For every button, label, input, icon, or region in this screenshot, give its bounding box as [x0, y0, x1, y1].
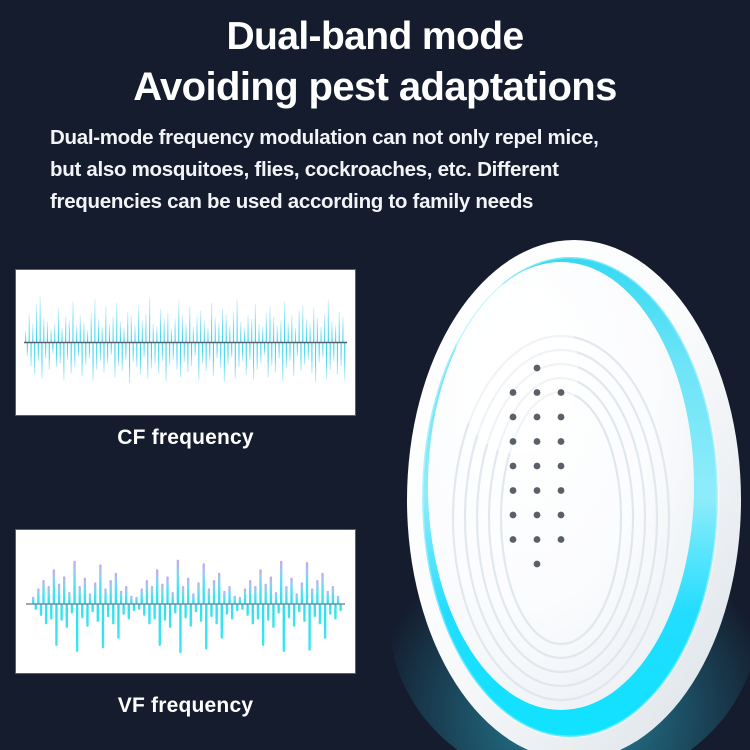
vf-wave-bar — [234, 596, 236, 604]
vf-caption: VF frequency — [16, 694, 355, 718]
cf-wave-bar — [38, 343, 39, 362]
cf-wave-bar — [118, 343, 119, 367]
cf-wave-bar — [330, 343, 331, 370]
vf-wave-bar — [146, 580, 148, 604]
vf-wave-bar — [172, 592, 174, 604]
grille-dot — [510, 438, 517, 445]
cf-wave-bar — [195, 343, 196, 357]
vf-wave-bar — [296, 593, 298, 604]
vf-wave-bar — [159, 604, 161, 646]
description-paragraph: Dual-mode frequency modulation can not o… — [50, 122, 710, 218]
vf-wave-bar — [45, 604, 47, 624]
cf-wave-bar — [164, 318, 165, 343]
vf-wave-bar — [285, 586, 287, 604]
cf-wave-bar — [76, 325, 77, 342]
vf-wave-bar — [117, 604, 119, 639]
cf-wave-bar — [134, 325, 135, 342]
device-highlight — [454, 282, 578, 454]
vf-wave-bar — [138, 604, 140, 610]
grille-dot — [558, 463, 565, 470]
vf-wave-bar — [290, 578, 292, 604]
cf-wave-bar — [200, 310, 201, 342]
cf-wave-bar — [317, 318, 318, 343]
cf-wave-bar — [189, 307, 190, 343]
cf-wave-bar — [162, 343, 163, 362]
cf-wave-bar — [29, 314, 30, 343]
vf-wave-bar — [277, 604, 279, 614]
cf-wave-bar — [43, 318, 44, 343]
cf-wave-bar — [286, 343, 287, 369]
cf-wave-bar — [299, 310, 300, 342]
cf-wave-bar — [156, 326, 157, 342]
vf-wave-bar — [244, 588, 246, 604]
cf-wave-bar — [310, 324, 311, 343]
vf-wave-bar — [270, 576, 272, 604]
vf-wave-bar — [141, 588, 143, 604]
grille-dot — [510, 389, 517, 396]
cf-wave-bar — [231, 343, 232, 358]
cf-wave-bar — [96, 343, 97, 370]
vf-wave-bar — [58, 584, 60, 604]
grille-dot — [510, 463, 517, 470]
cf-wave-bar — [116, 303, 117, 343]
vf-wave-bar — [236, 604, 238, 611]
cf-wave-bar — [211, 303, 212, 343]
cf-wave-bar — [224, 343, 225, 383]
grille-dot — [534, 487, 541, 494]
vf-wave-bar — [215, 604, 217, 624]
vf-wave-bar — [298, 604, 300, 612]
vf-waveform-panel — [16, 530, 355, 673]
cf-wave-bar — [105, 307, 106, 343]
cf-wave-bar — [339, 312, 340, 343]
cf-wave-bar — [144, 343, 145, 358]
vf-wave-bar — [272, 604, 274, 628]
vf-wave-bar — [337, 596, 339, 604]
vf-wave-bar — [153, 604, 155, 620]
cf-wave-bar — [337, 343, 338, 375]
vf-wave-bar — [130, 596, 132, 604]
vf-wave-bar — [97, 604, 99, 622]
vf-wave-bar — [197, 582, 199, 604]
cf-wave-bar — [335, 325, 336, 342]
cf-wave-bar — [32, 324, 33, 343]
vf-wave-bar — [259, 569, 261, 604]
cf-wave-bar — [198, 343, 199, 380]
cf-wave-bar — [60, 343, 61, 364]
cf-wave-bar — [322, 343, 323, 358]
cf-wave-bar — [67, 343, 68, 360]
grille-dot — [534, 512, 541, 519]
cf-wave-bar — [173, 343, 174, 360]
cf-wave-bar — [295, 328, 296, 343]
vf-wave-bar — [42, 580, 44, 604]
cf-wave-bar — [227, 343, 228, 365]
grille-dot — [510, 536, 517, 543]
grille-dot — [534, 463, 541, 470]
cf-wave-bar — [82, 343, 83, 376]
cf-wave-bar — [113, 316, 114, 342]
vf-wave-bar — [35, 604, 37, 610]
grille-dot — [510, 487, 517, 494]
vf-wave-bar — [275, 592, 277, 604]
vf-wave-bar — [63, 576, 65, 604]
cf-wave-bar — [320, 326, 321, 342]
cf-wave-bar — [111, 343, 112, 355]
vf-wave-bar — [148, 604, 150, 624]
cf-wave-bar — [98, 319, 99, 343]
vf-wave-bar — [213, 580, 215, 604]
vf-wave-bar — [257, 604, 259, 620]
vf-wave-bar — [252, 604, 254, 624]
cf-wave-bar — [167, 313, 168, 343]
vf-wave-bar — [210, 604, 212, 617]
cf-wave-bar — [229, 325, 230, 342]
cf-wave-bar — [27, 343, 28, 357]
cf-wave-bar — [333, 343, 334, 362]
cf-wave-bar — [249, 343, 250, 360]
cf-wave-bar — [191, 343, 192, 367]
cf-wave-bar — [83, 323, 84, 343]
cf-wave-bar — [344, 343, 345, 380]
cf-wave-bar — [331, 321, 332, 342]
vf-wave-bar — [203, 563, 205, 604]
vf-wave-bar — [241, 604, 243, 610]
cf-wave-bar — [87, 330, 88, 342]
vf-wave-bar — [169, 604, 171, 628]
cf-wave-bar — [51, 329, 52, 343]
cf-wave-bar — [45, 343, 46, 359]
grille-dot — [534, 414, 541, 421]
cf-wave-bar — [58, 308, 59, 343]
description-line-3: frequencies can be used according to fam… — [50, 186, 710, 218]
cf-wave-bar — [215, 318, 216, 343]
vf-wave-bar — [329, 604, 331, 615]
vf-wave-bar — [200, 604, 202, 622]
cf-wave-bar — [165, 343, 166, 381]
vf-wave-bar — [187, 578, 189, 604]
cf-wave-bar — [178, 300, 179, 342]
cf-wave-bar — [280, 320, 281, 342]
cf-wave-bar — [268, 343, 269, 378]
cf-wave-bar — [147, 343, 148, 379]
cf-wave-bar — [226, 314, 227, 343]
cf-wave-bar — [61, 328, 62, 343]
cf-wave-bar — [193, 326, 194, 342]
vf-wave-bar — [254, 586, 256, 604]
vf-wave-bar — [332, 586, 334, 604]
grille-dot — [534, 365, 541, 372]
vf-wave-bar — [339, 604, 341, 611]
cf-wave-bar — [304, 343, 305, 365]
grille-dot — [558, 389, 565, 396]
description-line-2: but also mosquitoes, flies, cockroaches,… — [50, 154, 710, 186]
vf-wave-bar — [267, 604, 269, 621]
cf-wave-bar — [47, 321, 48, 342]
cf-waveform-chart — [16, 270, 355, 415]
cf-wave-bar — [248, 315, 249, 342]
vf-wave-bar — [179, 604, 181, 653]
vf-wave-bar — [262, 604, 264, 646]
cf-wave-bar — [255, 304, 256, 342]
cf-wave-bar — [107, 343, 108, 364]
vf-wave-bar — [133, 604, 135, 611]
grille-dot — [510, 512, 517, 519]
cf-wave-bar — [308, 343, 309, 360]
marketing-banner: Dual-band mode Avoiding pest adaptations… — [0, 0, 750, 750]
cf-wave-bar — [273, 316, 274, 342]
cf-wave-bar — [169, 343, 170, 365]
vf-wave-bar — [174, 604, 176, 614]
cf-wave-bar — [180, 343, 181, 378]
cf-wave-bar — [209, 343, 210, 362]
cf-wave-bar — [235, 343, 236, 379]
vf-wave-bar — [314, 604, 316, 617]
cf-wave-bar — [102, 326, 103, 342]
cf-wave-bar — [302, 305, 303, 342]
cf-wave-bar — [222, 308, 223, 343]
cf-wave-bar — [127, 312, 128, 343]
vf-wave-bar — [182, 586, 184, 604]
vf-wave-bar — [218, 573, 220, 604]
cf-wave-bar — [271, 343, 272, 367]
cf-wave-bar — [213, 343, 214, 376]
cf-wave-bar — [315, 343, 316, 383]
vf-wave-bar — [143, 604, 145, 616]
cf-wave-bar — [36, 304, 37, 342]
cf-wave-bar — [175, 319, 176, 343]
cf-wave-bar — [258, 324, 259, 343]
cf-wave-bar — [289, 343, 290, 362]
vf-wave-bar — [91, 604, 93, 612]
cf-wave-bar — [145, 314, 146, 343]
vf-wave-bar — [37, 588, 39, 604]
vf-wave-bar — [283, 604, 285, 652]
vf-wave-bar — [293, 604, 295, 627]
cf-wave-bar — [109, 324, 110, 343]
cf-wave-bar — [269, 307, 270, 343]
vf-wave-bar — [99, 564, 101, 604]
vf-wave-bar — [166, 576, 168, 604]
cf-wave-bar — [284, 302, 285, 343]
vf-wave-bar — [40, 604, 42, 616]
vf-wave-bar — [112, 604, 114, 624]
vf-wave-bar — [327, 591, 329, 604]
cf-wave-bar — [313, 308, 314, 343]
cf-wave-bar — [154, 343, 155, 364]
page-title: Dual-band mode Avoiding pest adaptations — [0, 12, 750, 112]
vf-wave-bar — [151, 586, 153, 604]
vf-wave-bar — [81, 604, 83, 618]
cf-wave-bar — [279, 343, 280, 359]
grille-dot — [510, 414, 517, 421]
cf-wave-bar — [92, 343, 93, 381]
cf-wave-bar — [129, 343, 130, 384]
vf-wave-bar — [308, 604, 310, 651]
vf-wave-bar — [164, 604, 166, 621]
cf-wave-bar — [100, 343, 101, 362]
device-illustration — [398, 218, 750, 750]
cf-wave-bar — [277, 325, 278, 342]
vf-wave-bar — [122, 604, 124, 615]
vf-wave-bar — [79, 586, 81, 604]
cf-wave-bar — [114, 343, 115, 378]
cf-wave-bar — [218, 323, 219, 343]
vf-wave-bar — [48, 586, 50, 604]
cf-wave-bar — [196, 316, 197, 342]
cf-wave-bar — [91, 313, 92, 343]
vf-wave-bar — [228, 586, 230, 604]
cf-wave-bar — [30, 343, 31, 367]
vf-wave-bar — [249, 580, 251, 604]
grille-dot — [558, 438, 565, 445]
cf-wave-bar — [140, 343, 141, 375]
cf-wave-bar — [63, 343, 64, 380]
cf-wave-bar — [151, 343, 152, 369]
cf-wave-bar — [341, 343, 342, 367]
vf-wave-bar — [115, 573, 117, 604]
vf-wave-bar — [184, 604, 186, 618]
cf-wave-bar — [275, 343, 276, 373]
cf-wave-bar — [149, 298, 150, 343]
cf-wave-bar — [288, 323, 289, 343]
vf-wave-bar — [221, 604, 223, 639]
cf-wave-bar — [142, 320, 143, 342]
grille-dot — [534, 389, 541, 396]
cf-wave-bar — [246, 343, 247, 375]
cf-wave-bar — [293, 343, 294, 376]
cf-wave-bar — [74, 343, 75, 368]
description-line-1: Dual-mode frequency modulation can not o… — [50, 122, 710, 154]
cf-wave-bar — [233, 312, 234, 343]
cf-wave-bar — [25, 331, 26, 342]
grille-dot — [558, 536, 565, 543]
vf-wave-bar — [303, 604, 305, 622]
vf-wave-bar — [125, 586, 127, 604]
vf-wave-bar — [66, 604, 68, 628]
cf-wave-bar — [184, 343, 185, 363]
cf-wave-bar — [49, 343, 50, 370]
vf-wave-bar — [288, 604, 290, 618]
cf-wave-bar — [244, 328, 245, 343]
cf-wave-bar — [72, 302, 73, 343]
vf-wave-bar — [135, 597, 137, 604]
cf-wave-bar — [257, 343, 258, 370]
cf-wave-bar — [120, 321, 121, 342]
vf-wave-bar — [94, 582, 96, 604]
cf-wave-bar — [187, 343, 188, 373]
cf-wave-bar — [202, 343, 203, 364]
cf-wave-bar — [123, 328, 124, 343]
grille-dot — [558, 487, 565, 494]
cf-wave-bar — [78, 343, 79, 357]
cf-wave-bar — [158, 343, 159, 374]
grille-dot — [534, 561, 541, 568]
cf-wave-bar — [342, 316, 343, 342]
grille-dot — [558, 512, 565, 519]
cf-wave-bar — [65, 316, 66, 342]
vf-wave-bar — [324, 604, 326, 639]
cf-wave-bar — [326, 343, 327, 379]
vf-wave-bar — [89, 593, 91, 604]
cf-wave-bar — [242, 343, 243, 362]
vf-wave-bar — [161, 584, 163, 604]
vf-wave-bar — [104, 588, 106, 604]
ultrasonic-pest-repeller-device — [398, 218, 750, 750]
cf-wave-bar — [207, 328, 208, 343]
vf-wave-bar — [246, 604, 248, 616]
vf-wave-bar — [60, 604, 62, 621]
vf-wave-bar — [50, 604, 52, 620]
vf-wave-bar — [334, 604, 336, 620]
cf-wave-bar — [297, 343, 298, 357]
cf-wave-bar — [266, 313, 267, 343]
cf-wave-bar — [133, 343, 134, 363]
cf-wave-bar — [136, 343, 137, 368]
cf-wave-bar — [251, 319, 252, 343]
cf-wave-bar — [171, 329, 172, 343]
vf-wave-bar — [53, 569, 55, 604]
headline-line-1: Dual-band mode — [226, 15, 523, 58]
cf-wave-bar — [54, 324, 55, 343]
cf-wave-bar — [103, 343, 104, 373]
vf-wave-bar — [223, 591, 225, 604]
vf-wave-bar — [239, 597, 241, 604]
cf-wave-bar — [282, 343, 283, 381]
cf-wave-bar — [94, 299, 95, 342]
cf-wave-bar — [176, 343, 177, 370]
cf-wave-bar — [300, 343, 301, 372]
cf-wave-bar — [217, 343, 218, 359]
cf-wave-bar — [204, 320, 205, 342]
vf-wave-bar — [231, 604, 233, 620]
cf-wave-bar — [328, 300, 329, 342]
grille-dot — [534, 438, 541, 445]
vf-wave-bar — [195, 604, 197, 612]
cf-wave-bar — [306, 319, 307, 343]
cf-wave-bar — [71, 343, 72, 374]
vf-wave-bar — [102, 604, 104, 648]
cf-wave-bar — [220, 343, 221, 369]
cf-wave-bar — [41, 343, 42, 379]
cf-wave-bar — [125, 343, 126, 360]
vf-wave-bar — [68, 592, 70, 604]
vf-wave-bar — [205, 604, 207, 650]
vf-wave-bar — [192, 593, 194, 604]
vf-wave-bar — [321, 573, 323, 604]
vf-wave-bar — [120, 591, 122, 604]
vf-wave-bar — [110, 580, 112, 604]
cf-wave-bar — [324, 314, 325, 343]
vf-wave-bar — [301, 582, 303, 604]
cf-wave-bar — [206, 343, 207, 372]
cf-caption: CF frequency — [16, 426, 355, 450]
vf-waveform-chart — [16, 530, 355, 673]
cf-wave-bar — [311, 343, 312, 374]
cf-wave-bar — [89, 343, 90, 359]
cf-wave-bar — [186, 324, 187, 343]
cf-wave-bar — [85, 343, 86, 365]
cf-wave-bar — [138, 305, 139, 342]
cf-wave-bar — [160, 309, 161, 342]
grille-dot — [534, 536, 541, 543]
cf-waveform-panel — [16, 270, 355, 415]
grille-dot — [558, 414, 565, 421]
cf-wave-bar — [40, 297, 41, 343]
vf-wave-bar — [208, 588, 210, 604]
vf-wave-bar — [316, 580, 318, 604]
cf-wave-bar — [56, 343, 57, 368]
